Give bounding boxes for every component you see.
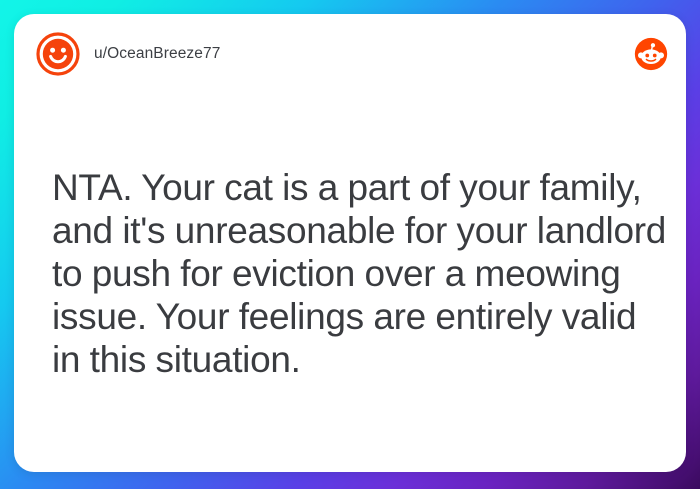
reddit-comment-card: u/OceanBreeze77 — [14, 14, 686, 472]
reddit-snoo-icon — [634, 37, 668, 71]
avatar[interactable] — [36, 32, 80, 76]
username-label: u/OceanBreeze77 — [94, 45, 220, 63]
card-header: u/OceanBreeze77 — [14, 14, 686, 94]
reddit-logo[interactable] — [634, 37, 668, 71]
smiley-face-avatar-icon — [36, 32, 80, 76]
screenshot-stage: u/OceanBreeze77 — [0, 0, 700, 489]
comment-text: NTA. Your cat is a part of your family, … — [52, 166, 672, 381]
comment-body: NTA. Your cat is a part of your family, … — [52, 166, 672, 381]
